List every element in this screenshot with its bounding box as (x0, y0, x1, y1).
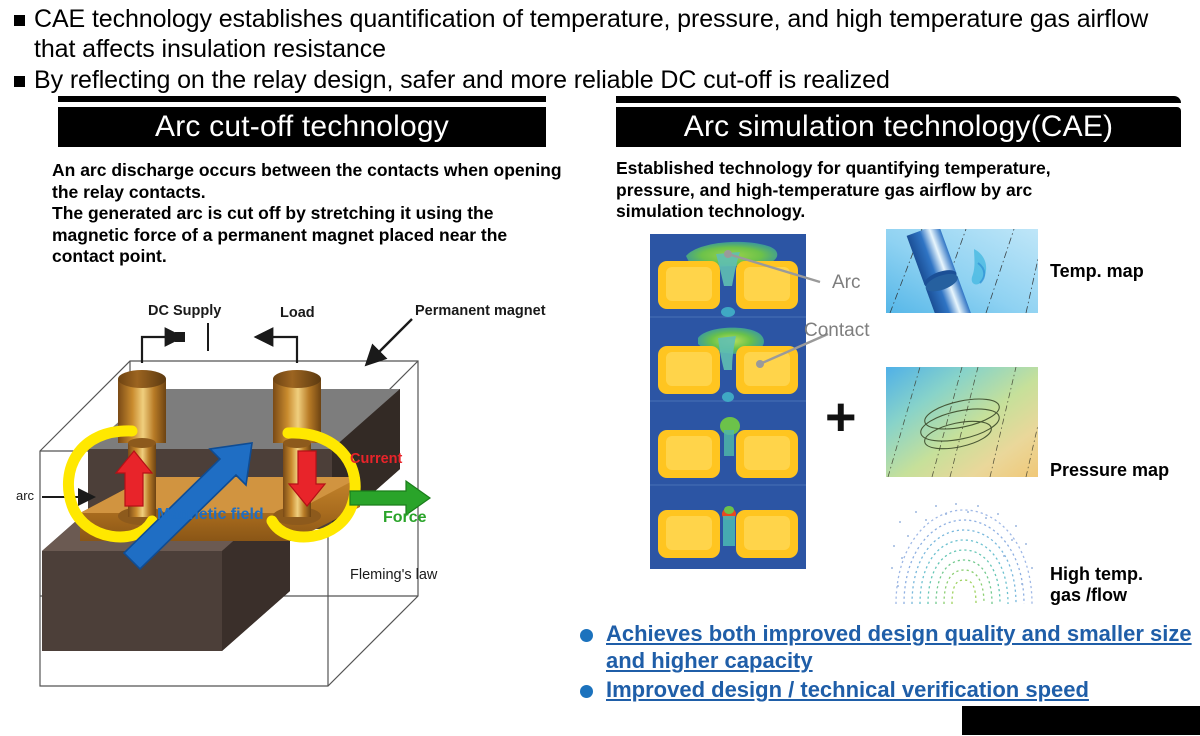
top-bullet-item: CAE technology establishes quantificatio… (14, 4, 1194, 64)
right-header-rule (616, 96, 1181, 103)
bottom-link-text-2[interactable]: Improved design / technical verification… (606, 676, 1089, 703)
label-dc-supply: DC Supply (148, 303, 221, 319)
bottom-link-item[interactable]: Achieves both improved design quality an… (580, 620, 1200, 674)
left-header-rule (58, 96, 546, 102)
supply-node-icon (175, 332, 185, 342)
round-bullet-icon (580, 629, 593, 642)
square-bullet-icon (14, 15, 25, 26)
label-magnetic-field: Magnetic field (157, 506, 264, 524)
bottom-link-text-1[interactable]: Achieves both improved design quality an… (606, 620, 1200, 674)
bottom-right-black-block (962, 706, 1200, 735)
gasflow-map-image (886, 496, 1038, 606)
slide-canvas: CAE technology establishes quantificatio… (0, 0, 1200, 735)
left-panel-header: Arc cut-off technology (58, 107, 546, 147)
top-bullet-text-2: By reflecting on the relay design, safer… (34, 65, 890, 95)
top-bullet-list: CAE technology establishes quantificatio… (14, 4, 1194, 96)
relay-diagram-svg (20, 301, 600, 731)
pressure-map-image (886, 367, 1038, 477)
bottom-link-list: Achieves both improved design quality an… (580, 620, 1200, 705)
left-panel: Arc cut-off technology An arc discharge … (0, 96, 600, 736)
left-panel-body: An arc discharge occurs between the cont… (52, 160, 572, 268)
label-force: Force (383, 509, 427, 527)
bottom-link-item[interactable]: Improved design / technical verification… (580, 676, 1200, 703)
arc-cutoff-diagram: DC Supply Load Permanent magnet arc Curr… (20, 301, 600, 731)
map-label-pressure: Pressure map (1050, 460, 1169, 481)
top-bullet-item: By reflecting on the relay design, safer… (14, 65, 1194, 95)
round-bullet-icon (580, 685, 593, 698)
temperature-map-image (886, 229, 1038, 313)
map-label-temp: Temp. map (1050, 261, 1144, 282)
square-bullet-icon (14, 76, 25, 87)
permanent-magnet-leader (368, 319, 412, 363)
simulation-label-arc: Arc (832, 272, 861, 294)
arc-simulation-image (650, 234, 806, 569)
right-panel-header: Arc simulation technology(CAE) (616, 107, 1181, 147)
right-panel-body: Established technology for quantifying t… (616, 158, 1116, 223)
arc-simulation-svg (650, 234, 806, 569)
top-bullet-text-1: CAE technology establishes quantificatio… (34, 4, 1194, 64)
label-flemings-law: Fleming's law (350, 567, 437, 583)
label-current: Current (350, 451, 402, 467)
simulation-label-contact: Contact (804, 320, 869, 342)
plus-operator-icon: + (825, 390, 857, 444)
label-permanent-magnet: Permanent magnet (415, 303, 546, 319)
label-load: Load (280, 305, 315, 321)
label-arc: arc (16, 488, 34, 503)
map-label-gasflow: High temp. gas /flow (1050, 564, 1143, 606)
